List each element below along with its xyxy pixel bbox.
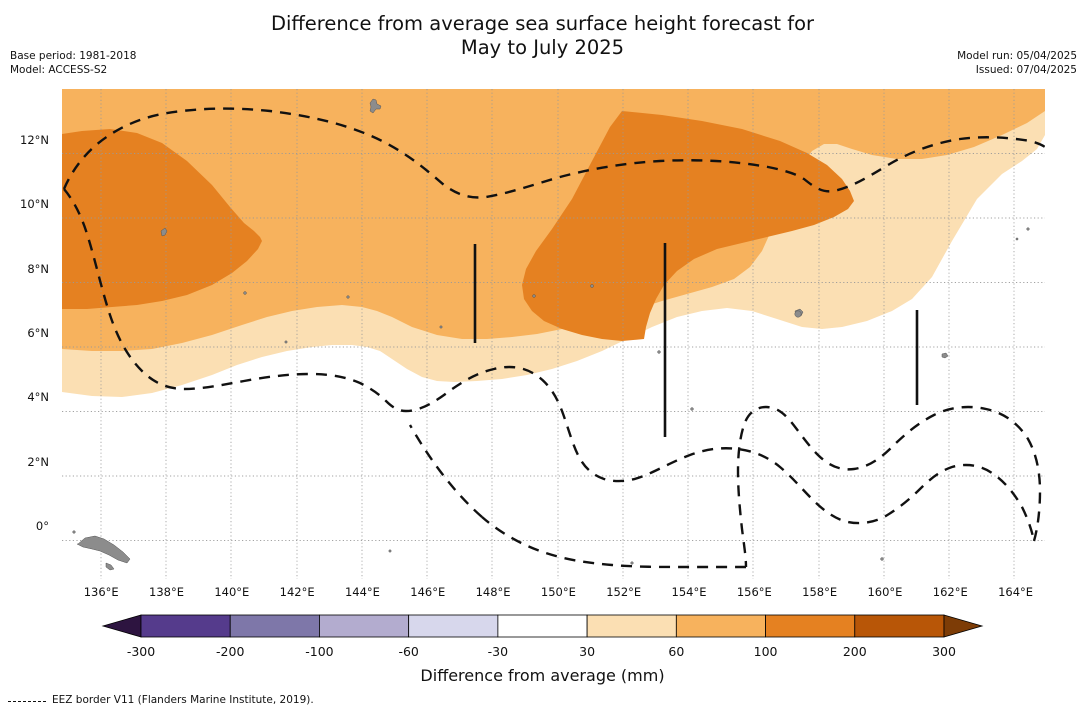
y-axis-tick: 12°N: [20, 133, 56, 147]
x-axis-tick: 158°E: [802, 585, 837, 599]
colorbar-cell: [409, 615, 498, 637]
page-title: Difference from average sea surface heig…: [0, 12, 1085, 60]
figure-root: Difference from average sea surface heig…: [0, 0, 1085, 713]
colorbar-cell: [230, 615, 319, 637]
colorbar-tick: -30: [488, 644, 508, 659]
colorbar-cell: [587, 615, 676, 637]
colorbar: -300-200-100-60-303060100200300 Differen…: [0, 612, 1085, 672]
colorbar-tick: 60: [668, 644, 684, 659]
colorbar-tick: -200: [216, 644, 244, 659]
x-axis-tick: 156°E: [737, 585, 772, 599]
map-canvas: [62, 89, 1045, 579]
y-axis-labels: 12°N10°N8°N6°N4°N2°N0°: [0, 89, 56, 579]
x-axis-tick: 142°E: [280, 585, 315, 599]
colorbar-cell: [766, 615, 855, 637]
colorbar-tick: -300: [127, 644, 155, 659]
x-axis-tick: 162°E: [933, 585, 968, 599]
x-axis-tick: 138°E: [149, 585, 184, 599]
colorbar-title: Difference from average (mm): [0, 666, 1085, 685]
x-axis-tick: 146°E: [410, 585, 445, 599]
map-plot-area: ©Commonwealth of Australia 2025, Bureau …: [62, 89, 1045, 579]
x-axis-tick: 148°E: [476, 585, 511, 599]
x-axis-tick: 160°E: [867, 585, 902, 599]
legend-footer: EEZ border V11 (Flanders Marine Institut…: [8, 694, 314, 706]
x-axis-labels: 136°E138°E140°E142°E144°E146°E148°E150°E…: [62, 585, 1045, 603]
y-axis-tick: 10°N: [20, 197, 56, 211]
colorbar-tick: 300: [932, 644, 956, 659]
colorbar-tick: -100: [305, 644, 333, 659]
y-axis-tick: 8°N: [27, 262, 56, 276]
y-axis-tick: 4°N: [27, 390, 56, 404]
eez-dash-swatch: [8, 701, 46, 702]
colorbar-cell: [676, 615, 765, 637]
x-axis-tick: 152°E: [606, 585, 641, 599]
colorbar-cell: [498, 615, 587, 637]
meta-left-text: Base period: 1981-2018 Model: ACCESS-S2: [10, 50, 136, 77]
meta-right-text: Model run: 05/04/2025 Issued: 07/04/2025: [957, 50, 1077, 77]
x-axis-tick: 150°E: [541, 585, 576, 599]
x-axis-tick: 136°E: [84, 585, 119, 599]
y-axis-tick: 0°: [36, 519, 56, 533]
colorbar-tick: -60: [398, 644, 418, 659]
x-axis-tick: 144°E: [345, 585, 380, 599]
x-axis-tick: 140°E: [214, 585, 249, 599]
colorbar-cell: [141, 615, 230, 637]
colorbar-tick: 30: [579, 644, 595, 659]
colorbar-swatches: [0, 612, 1085, 642]
colorbar-over-arrow: [944, 615, 982, 637]
colorbar-cell: [319, 615, 408, 637]
colorbar-tick: 100: [754, 644, 778, 659]
colorbar-under-arrow: [103, 615, 141, 637]
y-axis-tick: 2°N: [27, 455, 56, 469]
y-axis-tick: 6°N: [27, 326, 56, 340]
colorbar-cell: [855, 615, 944, 637]
x-axis-tick: 154°E: [672, 585, 707, 599]
x-axis-tick: 164°E: [998, 585, 1033, 599]
colorbar-tick: 200: [843, 644, 867, 659]
eez-legend-label: EEZ border V11 (Flanders Marine Institut…: [52, 694, 314, 706]
